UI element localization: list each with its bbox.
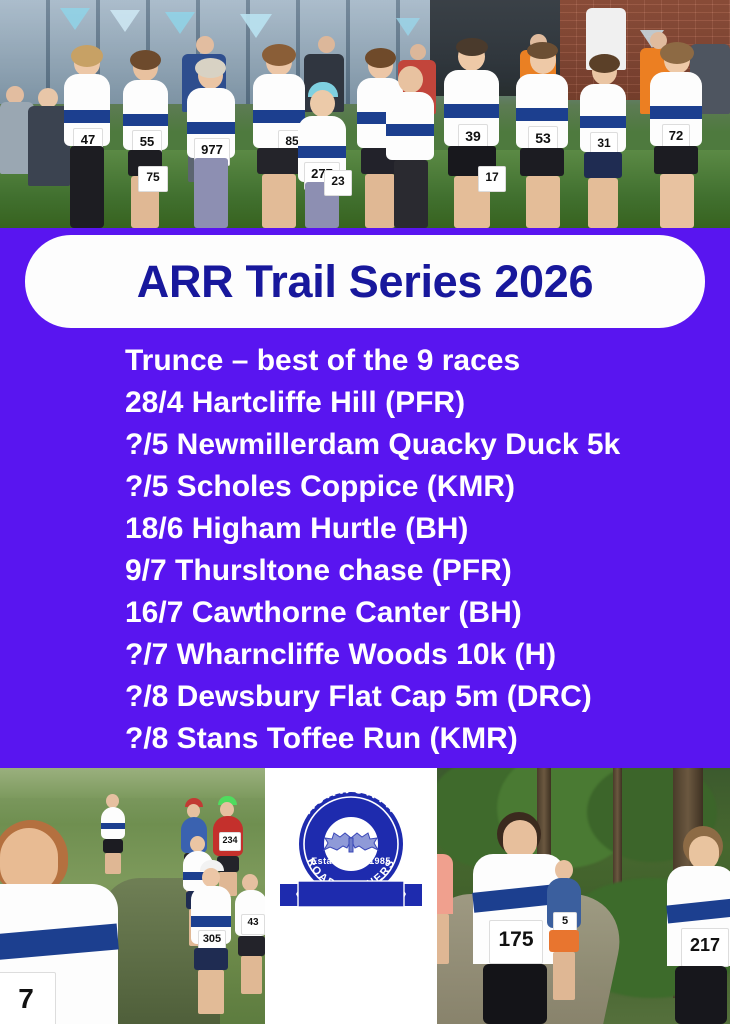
runner-legs xyxy=(241,956,262,994)
runner-head xyxy=(689,836,719,870)
runner-legs xyxy=(483,964,547,1024)
hillside-horizon xyxy=(0,768,265,798)
runner-hair xyxy=(130,50,161,70)
runner-shorts xyxy=(520,148,564,176)
race-list-item: Trunce – best of the 9 races xyxy=(0,340,730,382)
runner-figure: 23 xyxy=(316,118,370,228)
runner-head xyxy=(0,828,58,892)
runner-vest-stripe xyxy=(580,116,626,128)
page-title: ARR Trail Series 2026 xyxy=(137,256,593,308)
runner-head xyxy=(106,794,119,808)
runner-hair xyxy=(660,42,694,64)
runner-vest-stripe xyxy=(64,110,110,123)
runner-legs xyxy=(70,146,104,228)
title-card: ARR Trail Series 2026 xyxy=(25,235,705,328)
runner-head xyxy=(202,868,220,887)
runner-vest-stripe xyxy=(650,106,702,119)
runner-figure: 217 xyxy=(659,828,730,1024)
race-list-item: ?/7 Wharncliffe Woods 10k (H) xyxy=(0,634,730,676)
top-group-photo: 47 55 977 85 xyxy=(0,0,730,228)
runner-legs xyxy=(553,952,575,1000)
runner-vest-stripe xyxy=(187,122,235,134)
poster-root: 47 55 977 85 xyxy=(0,0,730,1024)
runner-bib: 175 xyxy=(489,920,543,964)
race-list-item: 18/6 Higham Hurtle (BH) xyxy=(0,508,730,550)
runner-head xyxy=(187,804,200,818)
runner-head xyxy=(555,860,573,880)
runner-figure-foreground: 7 xyxy=(0,824,136,1024)
race-list-item: 28/4 Hartcliffe Hill (PFR) xyxy=(0,382,730,424)
runner-hair xyxy=(195,58,226,78)
runner-bib: 43 xyxy=(241,914,265,935)
runner-bib: 217 xyxy=(681,928,729,967)
runner-figure: 31 xyxy=(576,48,632,228)
runner-hair xyxy=(589,54,620,73)
runner-figure: 977 xyxy=(180,52,242,228)
runner-figure xyxy=(437,854,457,964)
runner-hair xyxy=(527,42,558,59)
runner-shorts xyxy=(584,152,622,178)
runner-figure: 75 xyxy=(130,108,184,228)
runner-vest xyxy=(437,854,453,914)
runner-hair xyxy=(71,45,103,67)
runner-bib: 7 xyxy=(0,972,56,1024)
club-logo: ACKWORTH ROAD RUNNERS Established 1985 xyxy=(276,782,426,902)
runner-shorts xyxy=(654,146,698,174)
spectator-head xyxy=(318,36,335,53)
runner-hair xyxy=(262,44,296,66)
runner-head xyxy=(220,802,234,817)
race-list-item: ?/8 Dewsbury Flat Cap 5m (DRC) xyxy=(0,676,730,718)
runner-shorts xyxy=(549,930,579,952)
runner-figure xyxy=(380,46,442,228)
bottom-photo-strip: 234 305 xyxy=(0,768,730,1024)
runner-legs xyxy=(437,914,449,964)
bottom-left-photo: 234 305 xyxy=(0,768,265,1024)
runner-legs xyxy=(588,178,618,228)
race-list-item: 16/7 Cawthorne Canter (BH) xyxy=(0,592,730,634)
runner-bib: 17 xyxy=(478,166,506,192)
logo-banner-text: Established 1985 xyxy=(276,856,426,866)
race-list-item: 9/7 Thursltone chase (PFR) xyxy=(0,550,730,592)
runner-legs xyxy=(675,966,727,1024)
race-list: Trunce – best of the 9 races 28/4 Hartcl… xyxy=(0,340,730,760)
runner-vest-stripe xyxy=(191,916,231,927)
runner-figure: 17 xyxy=(470,108,524,228)
race-list-item: ?/8 Stans Toffee Run (KMR) xyxy=(0,718,730,760)
runner-head xyxy=(398,66,423,93)
runner-head xyxy=(190,836,205,852)
runner-bib: 75 xyxy=(138,166,168,192)
race-list-item: ?/5 Scholes Coppice (KMR) xyxy=(0,466,730,508)
runner-figure: 5 xyxy=(541,860,587,1000)
runner-legs xyxy=(394,160,428,228)
spectator-head xyxy=(38,88,58,108)
race-list-item: ?/5 Newmillerdam Quacky Duck 5k xyxy=(0,424,730,466)
runner-figure: 305 xyxy=(186,864,238,1014)
runner-figure: 72 xyxy=(646,42,706,228)
runner-legs xyxy=(198,970,224,1014)
runner-head xyxy=(242,874,258,891)
runner-head xyxy=(310,90,335,117)
runner-bib: 234 xyxy=(219,832,241,851)
logo-banner-ribbon xyxy=(276,880,426,914)
runner-head xyxy=(503,820,537,858)
runner-legs xyxy=(194,158,228,228)
club-logo-panel: ACKWORTH ROAD RUNNERS Established 1985 xyxy=(265,768,437,1024)
runner-figure: 47 xyxy=(58,48,118,228)
bottom-right-photo: 175 5 217 xyxy=(437,768,730,1024)
runner-vest-stripe xyxy=(386,124,434,136)
runner-figure: 43 xyxy=(232,874,265,994)
runner-bib: 23 xyxy=(324,170,352,196)
runner-hair xyxy=(456,38,488,56)
runner-shorts xyxy=(194,948,228,970)
runner-legs xyxy=(526,176,560,228)
runner-legs xyxy=(262,174,296,228)
runner-shorts xyxy=(238,936,265,956)
runner-legs xyxy=(660,174,694,228)
